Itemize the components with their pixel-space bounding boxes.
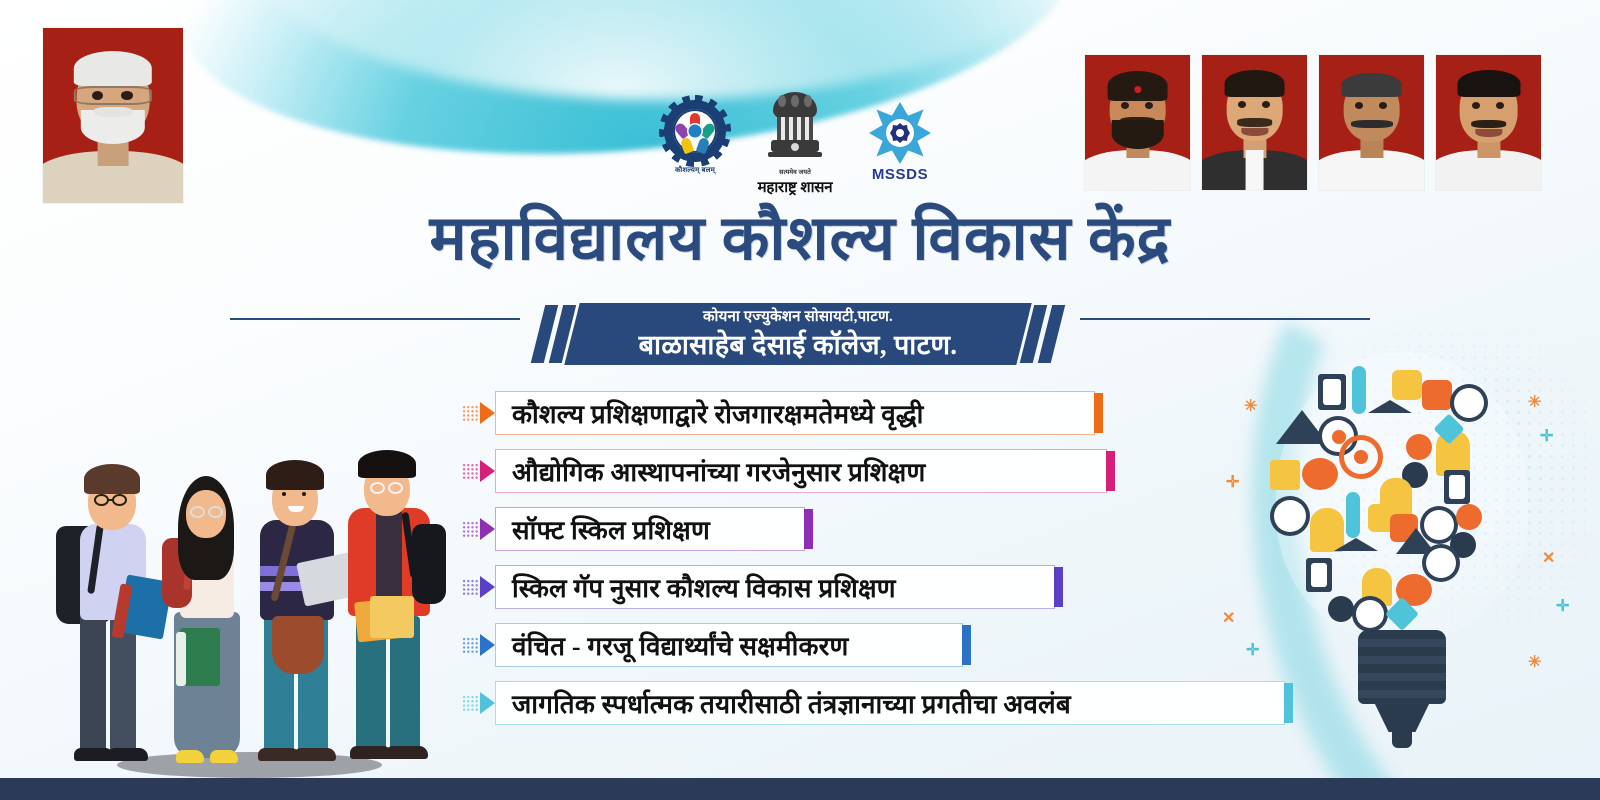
maharashtra-government-emblem: सत्यमेव जयते महाराष्ट्र शासन [740,92,850,197]
banner-root: कौशल्यम् बलम् सत्यमेव जयते महाराष्ट्र शा… [0,0,1600,800]
magnifier-dot [1332,430,1346,444]
mssds-star-icon [869,102,931,164]
sparkle-decoration-4: ✳ [1528,392,1541,412]
objective-item: सॉफ्ट स्किल प्रशिक्षण [462,504,1293,553]
title-rule-left [230,318,520,320]
objective-item: स्किल गॅप नुसार कौशल्य विकास प्रशिक्षण [462,562,1293,611]
bullet-dots-icon [462,463,479,479]
sparkle-decoration-6: ✛ [1246,640,1259,660]
bullet-dots-icon [462,405,479,421]
logo-row: कौशल्यम् बलम् सत्यमेव जयते महाराष्ट्र शा… [640,92,950,204]
leader-portrait-2 [1202,55,1307,190]
objective-text: सॉफ्ट स्किल प्रशिक्षण [495,507,805,551]
bullet-dots-icon [462,579,479,595]
emblem-caption: महाराष्ट्र शासन [740,177,850,197]
dna-tube-icon [1346,492,1360,538]
sparkle-decoration-7: ✕ [1542,548,1555,568]
compass-icon [1454,388,1484,418]
bottom-bar [0,778,1600,800]
clipboard-paper-2 [1449,475,1465,499]
leader-portrait-4 [1436,55,1541,190]
mssds-caption: MSSDS [854,166,946,183]
bullet-arrow-icon [480,634,495,656]
bullet-arrow-icon [480,692,495,714]
leader-portrait-1 [1085,55,1190,190]
mountain-icon-2 [1396,528,1436,554]
sparkle-decoration-5: ✕ [1222,608,1235,628]
objective-text: जागतिक स्पर्धात्मक तयारीसाठी तंत्रज्ञाना… [495,681,1285,725]
national-emblem-icon [766,92,824,166]
target-bullseye [1354,450,1368,464]
qr-code-icon [1270,460,1300,490]
objective-item: जागतिक स्पर्धात्मक तयारीसाठी तंत्रज्ञाना… [462,678,1293,727]
page-title: महाविद्यालय कौशल्य विकास केंद्र [0,208,1600,271]
objective-item: औद्योगिक आस्थापनांच्या गरजेनुसार प्रशिक्… [462,446,1293,495]
sparkle-decoration-9: ✛ [1556,596,1569,616]
bullet-dots-icon [462,521,479,537]
brain-icon [1302,458,1338,490]
sparkle-decoration-8: ✳ [1528,652,1541,672]
skill-india-logo: कौशल्यम् बलम् [654,100,736,175]
leader-portrait-3 [1319,55,1424,190]
graduation-cap-icon-2 [1334,538,1378,551]
skill-icons-lightbulb-illustration: ✛ ✳ ✛ ✳ ✕ ✛ ✕ ✳ ✛ [1240,352,1580,782]
bullet-end-cap [962,625,971,665]
bullet-dots-icon [462,695,479,711]
bullet-end-cap [1094,393,1103,433]
bullet-arrow-icon [480,576,495,598]
objective-text: स्किल गॅप नुसार कौशल्य विकास प्रशिक्षण [495,565,1055,609]
emblem-motto: सत्यमेव जयते [740,167,850,176]
gear-icon-orange [1406,434,1432,460]
bullet-end-cap [1054,567,1063,607]
clipboard-paper [1323,379,1341,405]
bullet-dots-icon [462,637,479,653]
society-name: कोयना एज्युकेशन सोसायटी,पाटण. [703,306,893,326]
puzzle-piece-icon [1392,370,1422,400]
sparkle-decoration-2: ✳ [1244,396,1257,416]
objective-item: वंचित - गरजू विद्यार्थ्यांचे सक्षमीकरण [462,620,1293,669]
objective-text: वंचित - गरजू विद्यार्थ्यांचे सक्षमीकरण [495,623,963,667]
objective-item: कौशल्य प्रशिक्षणाद्वारे रोजगारक्षमतेमध्य… [462,388,1293,437]
college-name: बाळासाहेब देसाई कॉलेज, पाटण. [639,325,958,362]
title-rule-right [1080,318,1370,320]
clipboard-paper-3 [1311,563,1327,587]
objectives-list: कौशल्य प्रशिक्षणाद्वारे रोजगारक्षमतेमध्य… [462,388,1293,736]
compass-icon-2 [1356,600,1384,628]
bulb-screw [1374,702,1430,732]
prime-minister-portrait [43,28,183,203]
gear-icon-orange-2 [1456,504,1482,530]
mssds-logo: MSSDS [854,102,946,183]
bulb-base [1358,630,1446,704]
graduation-cap-icon [1368,400,1412,413]
gear-icon-dark-2 [1450,532,1476,558]
students-group-illustration [42,388,462,778]
bullet-arrow-icon [480,402,495,424]
puzzle-piece-icon-2 [1422,380,1452,410]
sparkle-decoration-1: ✛ [1226,472,1239,492]
gear-icon [664,100,726,162]
objective-text: कौशल्य प्रशिक्षणाद्वारे रोजगारक्षमतेमध्य… [495,391,1095,435]
mountain-icon [1276,410,1328,444]
skill-india-caption: कौशल्यम् बलम् [654,166,736,175]
gear-icon-dark-3 [1328,596,1354,622]
clock-icon [1274,500,1306,532]
clock-icon-2 [1426,548,1456,578]
bullet-arrow-icon [480,518,495,540]
bullet-arrow-icon [480,460,495,482]
objective-text: औद्योगिक आस्थापनांच्या गरजेनुसार प्रशिक्… [495,449,1107,493]
test-tube-icon [1352,366,1366,414]
bullet-end-cap [804,509,813,549]
bulb-tip [1392,730,1412,748]
bullet-end-cap [1106,451,1115,491]
student-4 [330,432,450,768]
institution-ribbon: कोयना एज्युकेशन सोसायटी,पाटण. बाळासाहेब … [508,303,1088,365]
sparkle-decoration-3: ✛ [1540,426,1553,446]
